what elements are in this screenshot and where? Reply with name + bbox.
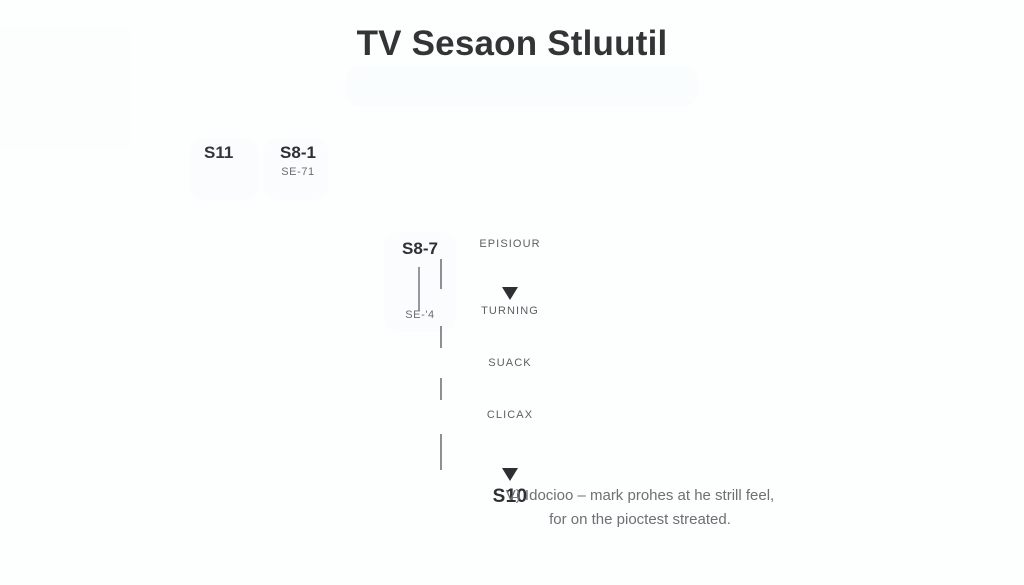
season-chip-s8-1-sublabel: SE-71 bbox=[272, 166, 324, 178]
branch-node-label: S8-7 bbox=[402, 239, 438, 258]
flow-gap bbox=[440, 400, 580, 409]
connector-line bbox=[440, 378, 442, 400]
caption-line-1: V̶) Idocioo – mark prohes at he strill f… bbox=[420, 484, 860, 508]
flow-gap bbox=[440, 421, 580, 434]
flow-gap bbox=[440, 250, 580, 259]
season-chip-s8-1-label: S8-1 bbox=[272, 143, 324, 163]
flow-step-clicax[interactable]: CLICAX bbox=[440, 409, 580, 421]
background-wash-title bbox=[346, 66, 698, 106]
page-title: TV Sesaon Stluutil bbox=[0, 24, 1024, 64]
flow-step-episiour[interactable]: EPISIOUR bbox=[440, 238, 580, 250]
flow-connector-arrow-1 bbox=[440, 259, 580, 289]
caption-line-2: for on the pioctest streated. bbox=[420, 508, 860, 532]
branch-connector-line bbox=[418, 267, 420, 311]
connector-line bbox=[440, 434, 442, 470]
flow-connector-line-1 bbox=[440, 326, 580, 348]
flow-step-turning[interactable]: TURNING bbox=[440, 305, 580, 317]
season-chip-s8-1[interactable]: S8-1 SE-71 bbox=[272, 143, 324, 178]
arrowhead-down-icon bbox=[502, 287, 518, 300]
flow-connector-arrow-2 bbox=[440, 434, 580, 470]
arrowhead-down-icon bbox=[502, 468, 518, 481]
connector-line bbox=[440, 259, 442, 289]
flow-step-suack[interactable]: SUACK bbox=[440, 357, 580, 369]
flow-gap bbox=[440, 348, 580, 357]
flow-diagram: EPISIOUR TURNING SUACK CLICAX S10 bbox=[440, 238, 580, 508]
flow-gap bbox=[440, 317, 580, 326]
caption: V̶) Idocioo – mark prohes at he strill f… bbox=[420, 484, 860, 531]
connector-line bbox=[440, 326, 442, 348]
flow-gap bbox=[440, 369, 580, 378]
season-chip-s11[interactable]: S11 bbox=[204, 143, 233, 163]
flow-connector-line-2 bbox=[440, 378, 580, 400]
